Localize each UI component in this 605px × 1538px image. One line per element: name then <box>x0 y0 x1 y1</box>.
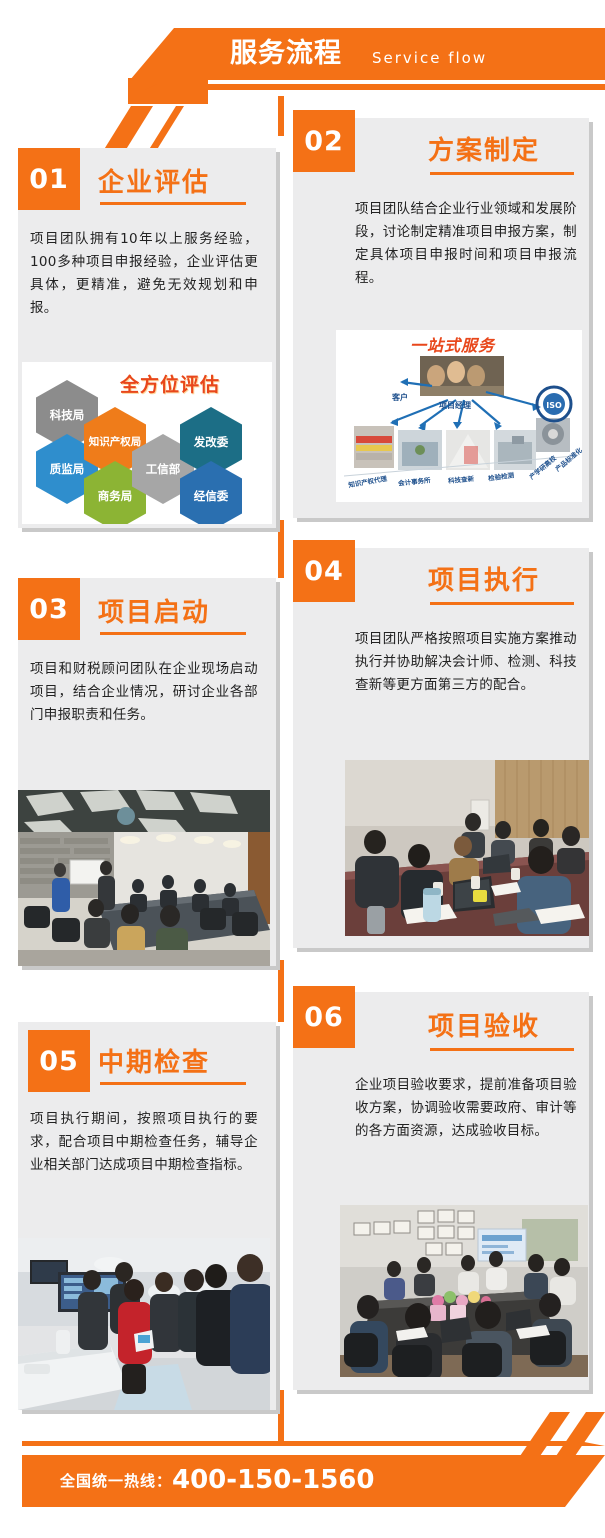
infographic-page: 服务流程 Service flow 01 企业评估 项目团队拥有10年以上服务经… <box>0 0 605 1538</box>
card-06-badge: 06 <box>293 986 355 1048</box>
card-01-title-rule <box>100 202 246 205</box>
one-stop-hub-label-manager: 项目经理 <box>439 400 471 411</box>
header-title: 服务流程 <box>230 36 342 72</box>
card-01-title: 企业评估 <box>98 162 210 199</box>
footer-hotline-label: 全国统一热线： <box>60 1468 172 1494</box>
photo-conference-room <box>18 790 270 966</box>
card-04-title: 项目执行 <box>428 560 540 597</box>
card-06-body: 企业项目验收要求，提前准备项目验收方案，协调验收需要政府、审计等的各方面资源，达… <box>355 1074 577 1143</box>
one-stop-diagram: ISO 一站式服务 客户 项目经理 知识产权代理 会计事务所 科技查新 检验检测… <box>336 330 582 502</box>
one-stop-diagram-title: 一站式服务 <box>410 332 495 356</box>
card-01-body: 项目团队拥有10年以上服务经验，100多种项目申报经验，企业评估更具体，更精准，… <box>30 228 258 320</box>
header-subtitle: Service flow <box>372 46 487 70</box>
connector-rail-2 <box>278 520 284 578</box>
card-03-body: 项目和财税顾问团队在企业现场启动项目，结合企业情况，研讨企业各部门申报职责和任务… <box>30 658 258 727</box>
one-stop-hub-label-customer: 客户 <box>392 392 408 403</box>
hex-diagram-title: 全方位评估 <box>120 370 220 397</box>
card-03-title: 项目启动 <box>98 592 210 629</box>
card-05-title: 中期检查 <box>98 1042 210 1079</box>
card-06-title-rule <box>430 1048 574 1051</box>
card-04-badge: 04 <box>293 540 355 602</box>
connector-rail-bottom <box>278 1390 284 1446</box>
header-banner: 服务流程 Service flow <box>0 18 605 96</box>
card-05-badge: 05 <box>28 1030 90 1092</box>
header-underline <box>145 84 605 90</box>
connector-rail-top <box>278 96 284 136</box>
card-03-title-rule <box>100 632 246 635</box>
footer-thin-rule <box>22 1441 605 1446</box>
card-05-body: 项目执行期间，按照项目执行的要求，配合项目中期检查任务，辅导企业相关部门达成项目… <box>30 1108 258 1177</box>
hex-diagram: 全方位评估 科技局 质监局 知识产权局 商务局 工信部 发改委 经信委 <box>22 362 272 524</box>
card-02-badge: 02 <box>293 110 355 172</box>
card-02-title: 方案制定 <box>428 130 540 167</box>
connector-rail-3 <box>278 960 284 1022</box>
photo-acceptance-meeting <box>340 1205 588 1377</box>
card-02-body: 项目团队结合企业行业领域和发展阶段，讨论制定精准项目申报方案，制定具体项目申报时… <box>355 198 577 290</box>
photo-working-meeting <box>345 760 589 936</box>
photo-site-visit <box>18 1238 270 1410</box>
card-06-title: 项目验收 <box>428 1006 540 1043</box>
footer-phone-number: 400-150-1560 <box>172 1462 375 1498</box>
header-corner-block <box>128 78 208 104</box>
card-04-title-rule <box>430 602 574 605</box>
card-02-title-rule <box>430 172 574 175</box>
card-04-body: 项目团队严格按照项目实施方案推动执行并协助解决会计师、检测、科技查新等更方面第三… <box>355 628 577 697</box>
header-bar <box>130 28 605 80</box>
card-01-badge: 01 <box>18 148 80 210</box>
card-03-badge: 03 <box>18 578 80 640</box>
svg-text:ISO: ISO <box>546 401 562 410</box>
card-05-title-rule <box>100 1082 246 1085</box>
